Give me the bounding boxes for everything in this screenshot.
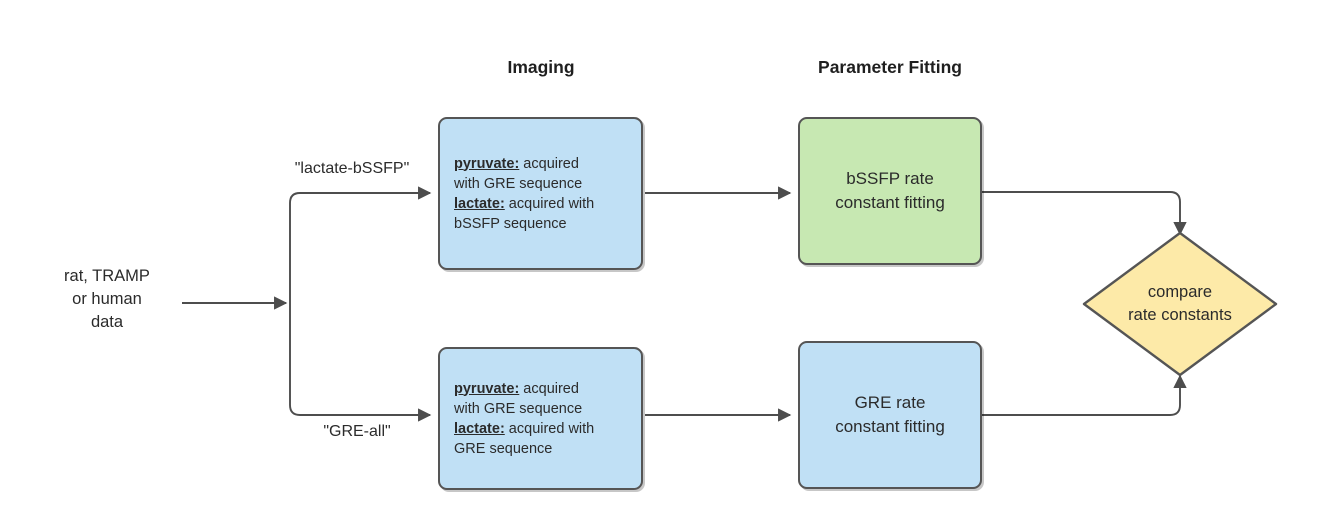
node-imaging-gre-all[interactable]: pyruvate: acquired with GRE sequence lac… [438, 347, 643, 490]
detail-line-1: pyruvate: acquired [454, 379, 627, 399]
diagram-canvas: Imaging Parameter Fitting rat, TRAMP or … [0, 0, 1320, 528]
source-data-label: rat, TRAMP or human data [32, 265, 182, 334]
detail-line-1-rest: acquired [519, 381, 579, 397]
node-fitting-gre-text: GRE rate constant fitting [800, 391, 980, 439]
detail-line-2-rest: with GRE sequence [454, 401, 582, 417]
edge-fitting-bottom-to-decision [982, 376, 1180, 415]
source-line-2: or human [32, 288, 182, 311]
node-imaging-gre-all-text: pyruvate: acquired with GRE sequence lac… [440, 379, 641, 459]
detail-line-3: lactate: acquired with [454, 419, 627, 439]
decision-line-1: compare [1128, 281, 1232, 304]
detail-line-2: with GRE sequence [454, 399, 627, 419]
decision-line-2: rate constants [1128, 304, 1232, 327]
detail-line-4-rest: GRE sequence [454, 441, 552, 457]
fitting-line-2: constant fitting [800, 191, 980, 215]
detail-line-1-bold: pyruvate: [454, 156, 519, 172]
detail-line-3-rest: acquired with [505, 421, 594, 437]
edge-branch-trunk [290, 193, 430, 415]
node-imaging-lactate-bssfp-text: pyruvate: acquired with GRE sequence lac… [440, 154, 641, 234]
section-header-parameter-fitting: Parameter Fitting [798, 57, 982, 78]
branch-label-lactate-bssfp: "lactate-bSSFP" [262, 160, 442, 178]
detail-line-1: pyruvate: acquired [454, 154, 627, 174]
section-header-imaging: Imaging [438, 57, 644, 78]
edge-fitting-top-to-decision [982, 192, 1180, 234]
detail-line-4-rest: bSSFP sequence [454, 216, 567, 232]
node-compare-rate-constants-text: compare rate constants [1084, 233, 1276, 375]
node-fitting-gre[interactable]: GRE rate constant fitting [798, 341, 982, 489]
detail-line-3-bold: lactate: [454, 196, 505, 212]
detail-line-3-rest: acquired with [505, 196, 594, 212]
source-line-1: rat, TRAMP [32, 265, 182, 288]
detail-line-4: GRE sequence [454, 439, 627, 459]
node-fitting-bssfp[interactable]: bSSFP rate constant fitting [798, 117, 982, 265]
node-fitting-bssfp-text: bSSFP rate constant fitting [800, 167, 980, 215]
node-compare-rate-constants[interactable]: compare rate constants [1084, 233, 1276, 375]
node-imaging-lactate-bssfp[interactable]: pyruvate: acquired with GRE sequence lac… [438, 117, 643, 270]
source-line-3: data [32, 311, 182, 334]
detail-line-2: with GRE sequence [454, 174, 627, 194]
detail-line-1-bold: pyruvate: [454, 381, 519, 397]
branch-label-gre-all: "GRE-all" [282, 423, 432, 441]
fitting-line-2: constant fitting [800, 415, 980, 439]
fitting-line-1: GRE rate [800, 391, 980, 415]
detail-line-2-rest: with GRE sequence [454, 176, 582, 192]
fitting-line-1: bSSFP rate [800, 167, 980, 191]
detail-line-4: bSSFP sequence [454, 214, 627, 234]
detail-line-3-bold: lactate: [454, 421, 505, 437]
detail-line-1-rest: acquired [519, 156, 579, 172]
detail-line-3: lactate: acquired with [454, 194, 627, 214]
